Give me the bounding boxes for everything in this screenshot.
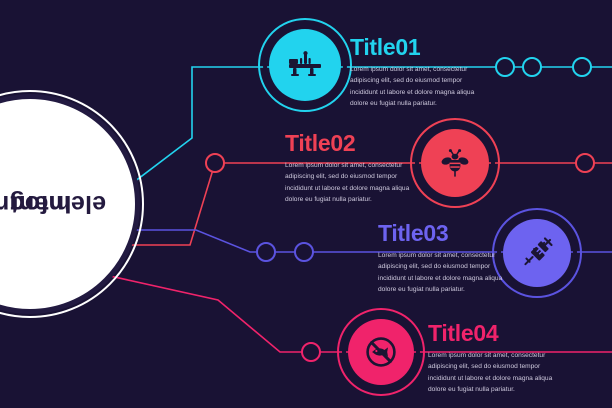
row-title-4: Title04: [428, 322, 566, 345]
connector-dot-1a: [495, 57, 515, 77]
connector-dot-3b: [294, 242, 314, 262]
hub-label: Infographicelement: [0, 99, 135, 309]
row-title-1: Title01: [350, 36, 488, 59]
content-block-3: Title03 Lorem ipsum dolor sit amet, cons…: [378, 222, 516, 295]
node-disc-1: [269, 29, 341, 101]
row-text-2: Lorem ipsum dolor sit amet, consectetur …: [285, 160, 423, 205]
syringe-icon: [520, 236, 554, 270]
content-block-2: Title02 Lorem ipsum dolor sit amet, cons…: [285, 132, 423, 205]
bee-icon: [438, 146, 472, 180]
node-circle-4[interactable]: [337, 308, 425, 396]
row-title-3: Title03: [378, 222, 516, 245]
row-text-3: Lorem ipsum dolor sit amet, consectetur …: [378, 250, 516, 295]
connector-dot-4a: [301, 342, 321, 362]
connector-dot-2a: [205, 153, 225, 173]
hub-label-line2: element: [0, 190, 127, 218]
row-text-1: Lorem ipsum dolor sit amet, consectetur …: [350, 64, 488, 109]
row-title-2: Title02: [285, 132, 423, 155]
content-block-1: Title01 Lorem ipsum dolor sit amet, cons…: [350, 36, 488, 109]
dissection-table-icon: [287, 50, 323, 80]
connector-dot-3a: [256, 242, 276, 262]
node-circle-1[interactable]: [258, 18, 352, 112]
node-disc-4: [348, 319, 414, 385]
content-block-4: Title04 Lorem ipsum dolor sit amet, cons…: [428, 322, 566, 395]
connector-dot-1c: [572, 57, 592, 77]
row-text-4: Lorem ipsum dolor sit amet, consectetur …: [428, 350, 566, 395]
connector-dot-2b: [575, 153, 595, 173]
node-disc-2: [421, 129, 489, 197]
connector-dot-1b: [522, 57, 542, 77]
node-circle-2[interactable]: [410, 118, 500, 208]
infographic-canvas: Infographicelement: [0, 0, 612, 408]
no-fishing-icon: [363, 334, 399, 370]
